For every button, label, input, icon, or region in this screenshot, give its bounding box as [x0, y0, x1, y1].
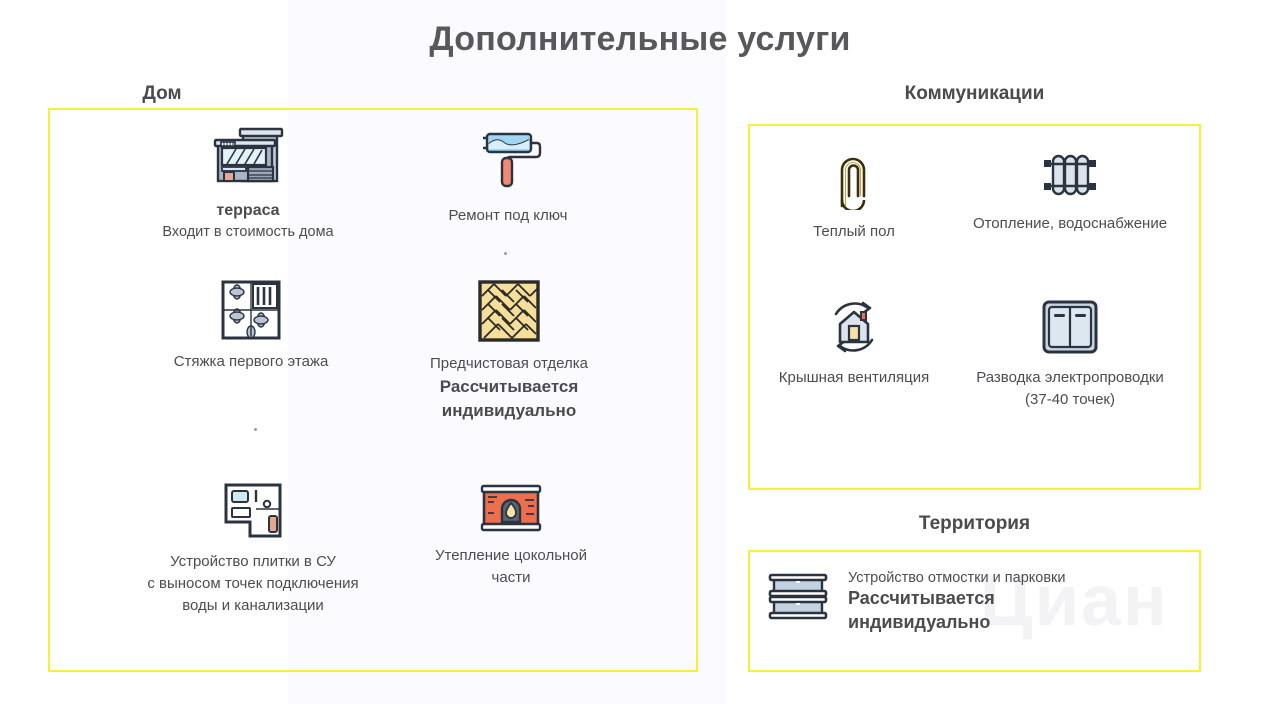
service-note: Входит в стоимость дома — [112, 222, 384, 243]
page-title: Дополнительные услуги — [0, 20, 1280, 59]
service-name: Утепление цокольной части — [396, 545, 626, 589]
fireplace-icon — [396, 482, 626, 539]
light-switch-icon — [948, 298, 1192, 361]
service-name: Стяжка первого этажа — [120, 351, 382, 373]
paving-layers-icon — [766, 573, 830, 632]
service-item-terrace: терраса Входит в стоимость дома — [112, 126, 384, 243]
service-name: терраса — [112, 199, 384, 222]
service-item-prefinish: Предчистовая отделка Рассчитывается инди… — [392, 280, 626, 424]
section-heading-house: Дом — [48, 83, 276, 105]
service-name: Предчистовая отделка — [392, 353, 626, 375]
bathroom-floorplan-icon — [108, 482, 398, 545]
underfloor-heating-pipe-icon — [772, 148, 936, 215]
parquet-herringbone-icon — [392, 280, 626, 347]
bullet-dot — [254, 428, 257, 431]
service-note: Рассчитывается индивидуально — [848, 586, 1066, 635]
service-item-basement-insulation: Утепление цокольной части — [396, 482, 626, 589]
paint-roller-icon — [388, 126, 628, 199]
service-name: Устройство плитки в СУ с выносом точек п… — [108, 551, 398, 616]
service-name: Устройство отмостки и парковки — [848, 570, 1066, 586]
paving-text-block: Устройство отмостки и парковки Рассчитыв… — [848, 570, 1066, 635]
service-item-heating-water: Отопление, водоснабжение — [950, 148, 1190, 235]
service-note: Рассчитывается индивидуально — [392, 375, 626, 424]
service-item-roof-ventilation: Крышная вентиляция — [766, 298, 942, 389]
service-item-screed: Стяжка первого этажа — [120, 280, 382, 373]
service-name: Разводка электропроводки (37-40 точек) — [948, 367, 1192, 411]
service-name: Крышная вентиляция — [766, 367, 942, 389]
section-heading-territory: Территория — [748, 513, 1201, 535]
bullet-dot — [504, 252, 507, 255]
service-name: Ремонт под ключ — [388, 205, 628, 227]
service-item-bathroom-tiling: Устройство плитки в СУ с выносом точек п… — [108, 482, 398, 616]
terrace-building-icon — [112, 126, 384, 193]
service-item-underfloor-heating: Теплый пол — [772, 148, 936, 243]
radiator-icon — [950, 148, 1190, 207]
roof-ventilation-icon — [766, 298, 942, 361]
slide-root: Циан Дополнительные услуги Дом терраса В… — [0, 0, 1280, 704]
service-item-renovation: Ремонт под ключ — [388, 126, 628, 227]
floor-tile-pattern-icon — [120, 280, 382, 345]
service-item-paving: Устройство отмостки и парковки Рассчитыв… — [766, 570, 1186, 635]
service-name: Отопление, водоснабжение — [950, 213, 1190, 235]
section-heading-communications: Коммуникации — [748, 83, 1201, 105]
service-item-electrical-wiring: Разводка электропроводки (37-40 точек) — [948, 298, 1192, 411]
service-name: Теплый пол — [772, 221, 936, 243]
